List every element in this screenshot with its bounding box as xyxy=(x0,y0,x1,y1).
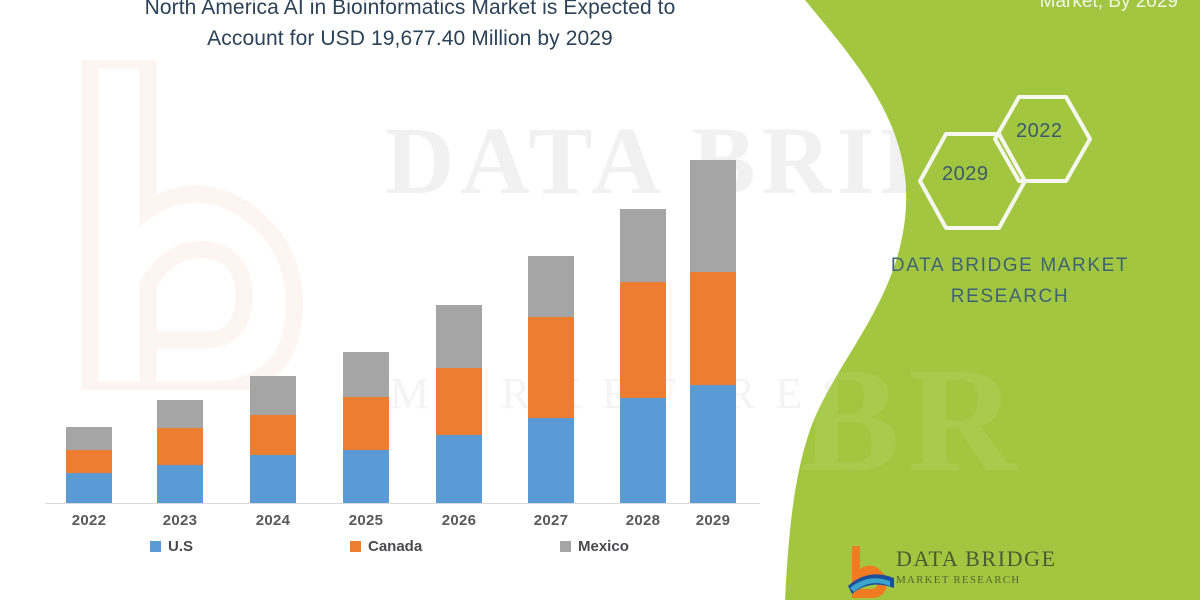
logo-text-tagline: MARKET RESEARCH xyxy=(896,574,1020,586)
hexagon-label-2029: 2029 xyxy=(942,163,989,186)
bar-segment-mexico[interactable] xyxy=(66,427,112,450)
bar-2023[interactable] xyxy=(157,400,203,503)
bar-segment-mexico[interactable] xyxy=(690,160,736,272)
bar-segment-canada[interactable] xyxy=(343,397,389,450)
bar-2028[interactable] xyxy=(620,209,666,503)
x-axis-label-2029: 2029 xyxy=(673,512,753,529)
bar-2025[interactable] xyxy=(343,352,389,503)
bar-2024[interactable] xyxy=(250,376,296,503)
legend-item-canada[interactable]: Canada xyxy=(350,538,560,555)
svg-text:BR: BR xyxy=(800,337,1024,503)
hexagon-labels: 2029 2022 xyxy=(898,85,1128,235)
bar-segment-canada[interactable] xyxy=(66,450,112,473)
bar-segment-mexico[interactable] xyxy=(436,305,482,368)
bar-segment-us[interactable] xyxy=(620,398,666,503)
hexagon-label-2022: 2022 xyxy=(1016,120,1063,143)
data-bridge-logo[interactable]: DATA BRIDGE MARKET RESEARCH xyxy=(838,540,1138,600)
legend-label-mexico: Mexico xyxy=(578,538,629,555)
chart-title: North America AI in Bioinformatics Marke… xyxy=(80,0,740,54)
bar-2027[interactable] xyxy=(528,256,574,503)
bar-segment-canada[interactable] xyxy=(250,415,296,455)
bar-segment-us[interactable] xyxy=(528,418,574,503)
x-axis-label-2023: 2023 xyxy=(140,512,220,529)
data-bridge-logo-mark xyxy=(838,542,894,598)
watermark-b-logo xyxy=(30,60,330,390)
brand-panel: BR Market, By 2029 2029 2022 DATA BRIDGE… xyxy=(780,0,1200,600)
bar-segment-canada[interactable] xyxy=(436,368,482,435)
bar-segment-us[interactable] xyxy=(157,465,203,503)
bar-segment-us[interactable] xyxy=(690,385,736,503)
bar-segment-us[interactable] xyxy=(343,450,389,503)
bar-segment-mexico[interactable] xyxy=(157,400,203,428)
brand-name-line-1: DATA BRIDGE MARKET xyxy=(850,250,1170,281)
bar-segment-canada[interactable] xyxy=(690,272,736,385)
logo-text-name: DATA BRIDGE xyxy=(896,546,1057,572)
bar-2022[interactable] xyxy=(66,427,112,503)
bar-segment-mexico[interactable] xyxy=(250,376,296,415)
bar-segment-us[interactable] xyxy=(250,455,296,503)
x-axis-label-2022: 2022 xyxy=(49,512,129,529)
bar-segment-canada[interactable] xyxy=(620,282,666,398)
legend-swatch-mexico xyxy=(560,541,571,552)
bar-2029[interactable] xyxy=(690,160,736,503)
bar-segment-mexico[interactable] xyxy=(343,352,389,397)
x-axis-line xyxy=(45,503,760,504)
legend-item-mexico[interactable]: Mexico xyxy=(560,538,629,555)
chart-title-line-2: Account for USD 19,677.40 Million by 202… xyxy=(80,23,740,54)
brand-name-line-2: RESEARCH xyxy=(850,281,1170,312)
bar-segment-canada[interactable] xyxy=(157,428,203,465)
bar-segment-mexico[interactable] xyxy=(528,256,574,317)
bar-segment-us[interactable] xyxy=(66,473,112,503)
legend-swatch-us xyxy=(150,541,161,552)
panel-heading: Market, By 2029 xyxy=(780,0,1200,16)
legend-item-us[interactable]: U.S xyxy=(150,538,350,555)
bar-segment-mexico[interactable] xyxy=(620,209,666,282)
x-axis-label-2027: 2027 xyxy=(511,512,591,529)
chart-legend: U.S Canada Mexico xyxy=(150,538,629,555)
bar-segment-us[interactable] xyxy=(436,435,482,503)
bar-2026[interactable] xyxy=(436,305,482,503)
x-axis-label-2026: 2026 xyxy=(419,512,499,529)
x-axis-label-2024: 2024 xyxy=(233,512,313,529)
legend-swatch-canada xyxy=(350,541,361,552)
brand-name: DATA BRIDGE MARKET RESEARCH xyxy=(780,250,1200,312)
bar-segment-canada[interactable] xyxy=(528,317,574,418)
legend-label-us: U.S xyxy=(168,538,193,555)
x-axis-label-2025: 2025 xyxy=(326,512,406,529)
x-axis-label-2028: 2028 xyxy=(603,512,683,529)
legend-label-canada: Canada xyxy=(368,538,422,555)
chart-title-line-1: North America AI in Bioinformatics Marke… xyxy=(80,0,740,23)
